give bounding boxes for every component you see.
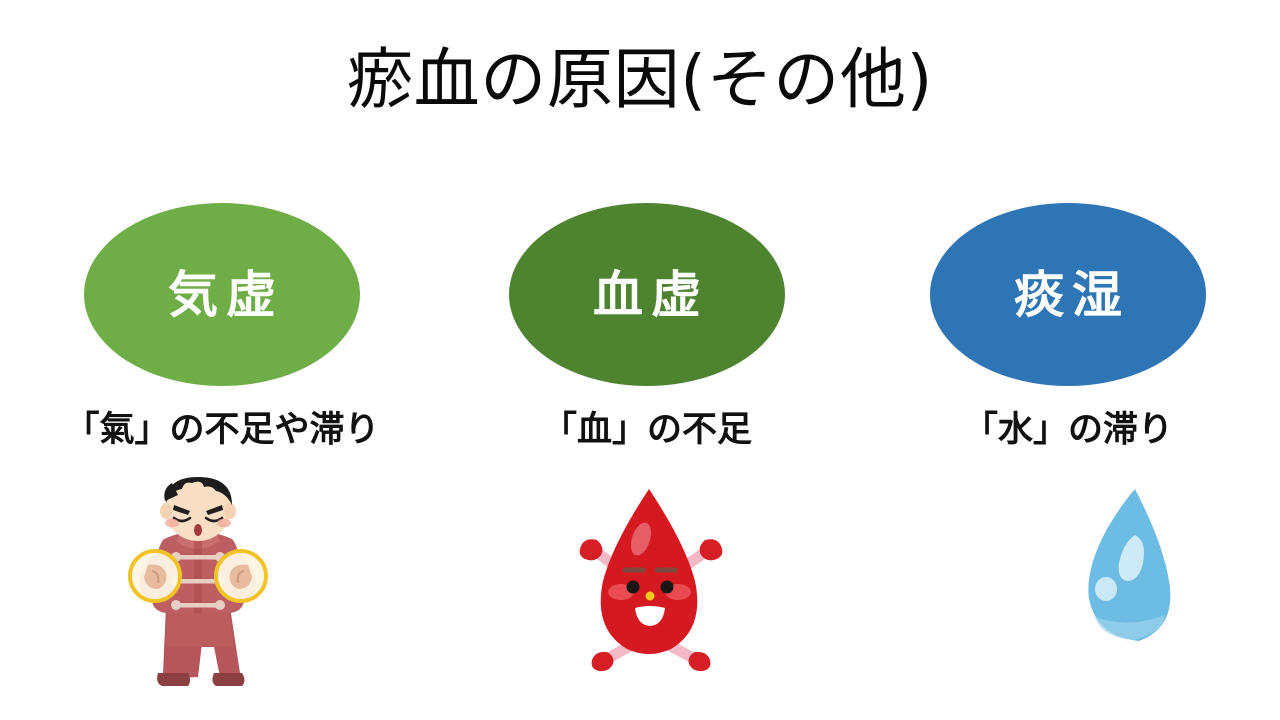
ellipse-wrap-kekkyo: 血虚 [509,203,785,386]
illustration-area-kekkyo [437,477,857,717]
concept-ellipse-label-kikyo: 気虚 [160,270,284,320]
water-drop-icon [1073,477,1183,677]
concept-ellipse-kekkyo[interactable]: 血虚 [509,203,785,386]
concept-caption-kekkyo: 「血」の不足 [437,409,857,451]
illustration-area-tanshitsu [858,477,1278,717]
page-title: 瘀血の原因(その他) [0,44,1280,117]
concept-ellipse-label-kekkyo: 血虚 [585,270,709,320]
concept-columns: 気虚 「氣」の不足や滞り [0,195,1280,720]
concept-column-kekkyo: 血虚 「血」の不足 [437,195,857,720]
blood-drop-character-icon [559,477,739,692]
kungfu-man-qi-orbs-icon [108,477,288,712]
concept-ellipse-tanshitsu[interactable]: 痰湿 [930,203,1206,386]
ellipse-wrap-kikyo: 気虚 [84,203,360,386]
concept-column-kikyo: 気虚 「氣」の不足や滞り [12,195,432,720]
concept-ellipse-kikyo[interactable]: 気虚 [84,203,360,386]
slide-canvas: 瘀血の原因(その他) 気虚 「氣」の不足や滞り [0,0,1280,720]
concept-caption-tanshitsu: 「水」の滞り [858,409,1278,451]
illustration-area-kikyo [12,477,432,717]
ellipse-wrap-tanshitsu: 痰湿 [930,203,1206,386]
concept-ellipse-label-tanshitsu: 痰湿 [1006,270,1130,320]
concept-column-tanshitsu: 痰湿 「水」の滞り [858,195,1278,720]
concept-caption-kikyo: 「氣」の不足や滞り [12,409,432,451]
